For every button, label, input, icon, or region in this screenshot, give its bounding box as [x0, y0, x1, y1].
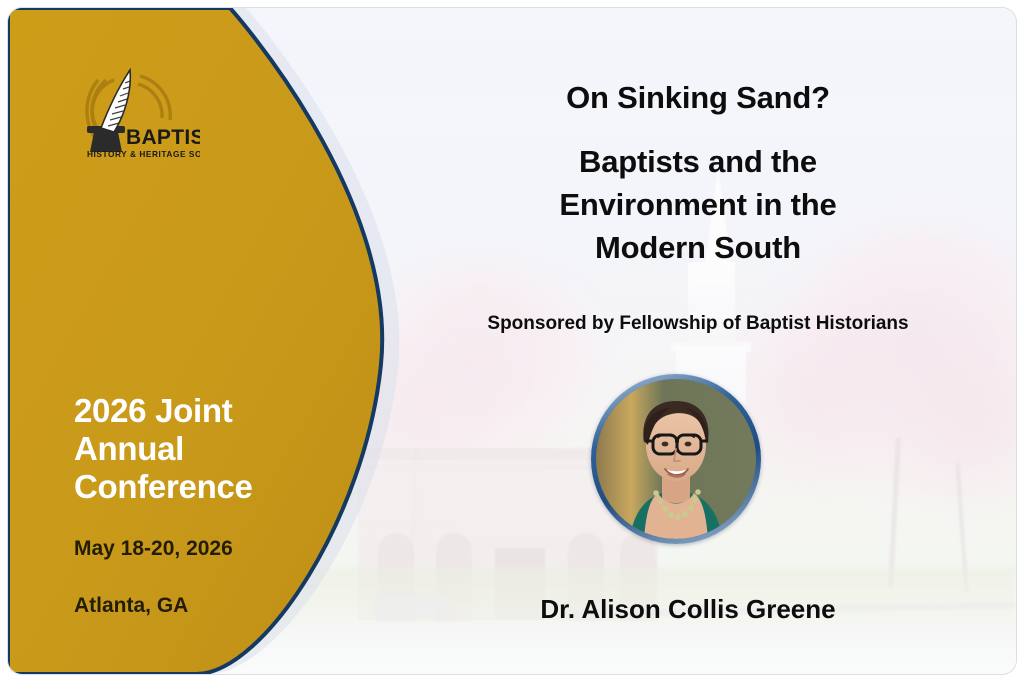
logo-primary-text: BAPTIST [126, 126, 200, 149]
slide-card: BAPTIST HISTORY & HERITAGE SOCIETY 2026 … [8, 8, 1016, 674]
sponsor-line: Sponsored by Fellowship of Baptist Histo… [398, 313, 998, 335]
session-subtitle-line-1: Baptists and the [408, 141, 988, 184]
conference-slide: BAPTIST HISTORY & HERITAGE SOCIETY 2026 … [0, 0, 1024, 683]
session-subtitle-line-2: Environment in the [408, 184, 988, 227]
conference-title: 2026 Joint Annual Conference [74, 392, 324, 506]
baptist-history-heritage-society-logo: BAPTIST HISTORY & HERITAGE SOCIETY [70, 66, 200, 161]
conference-dates: May 18-20, 2026 [74, 537, 233, 561]
session-title-line-1: On Sinking Sand? [408, 80, 988, 116]
speaker-name: Dr. Alison Collis Greene [428, 594, 948, 625]
session-subtitle-line-3: Modern South [408, 227, 988, 270]
speaker-portrait [591, 374, 761, 544]
conference-location: Atlanta, GA [74, 594, 188, 618]
session-subtitle: Baptists and the Environment in the Mode… [408, 141, 988, 269]
speaker-portrait-image [596, 379, 756, 539]
logo-secondary-text: HISTORY & HERITAGE SOCIETY [87, 149, 200, 159]
